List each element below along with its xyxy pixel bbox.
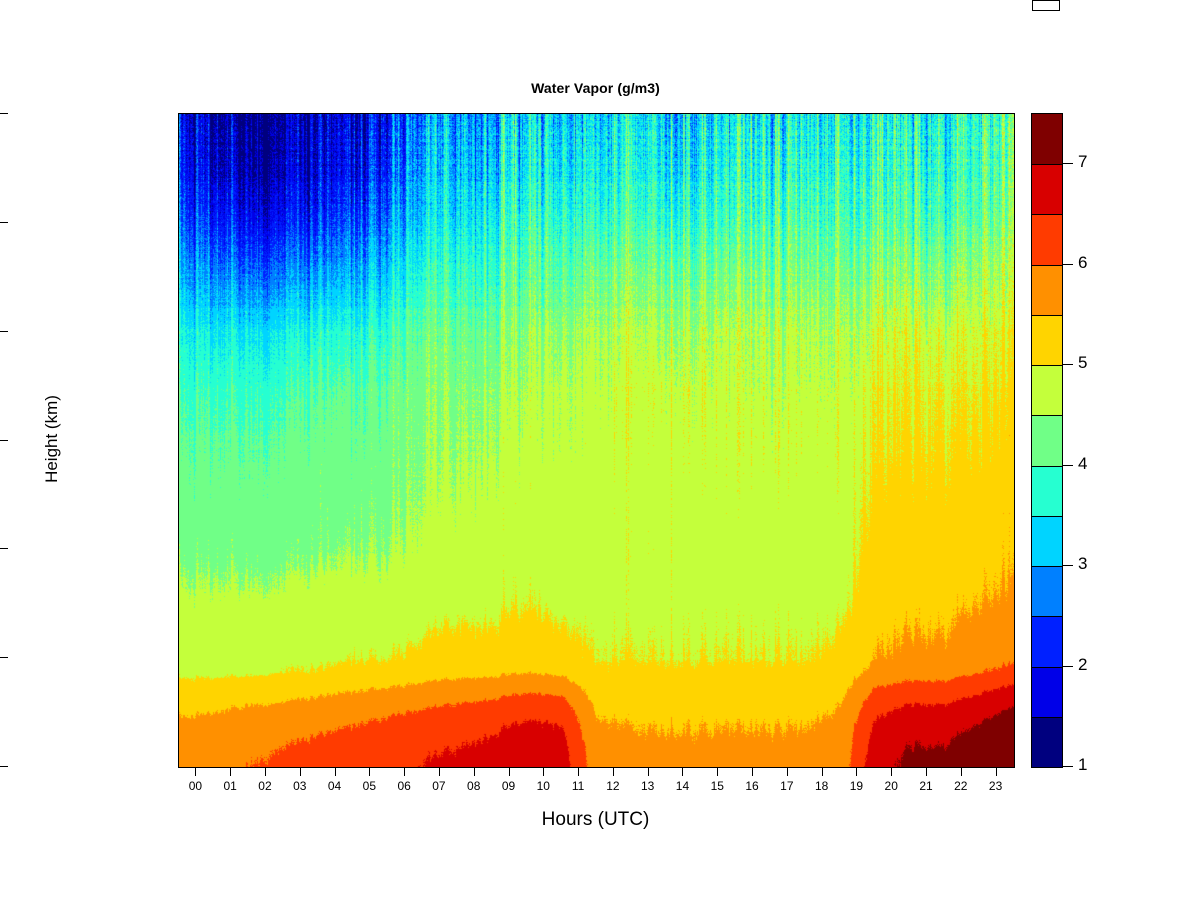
x-tick-line <box>996 767 997 776</box>
x-tick-label: 16 <box>740 779 764 793</box>
x-tick-line <box>509 767 510 776</box>
x-tick-line <box>474 767 475 776</box>
colorbar-tick-line <box>1063 465 1073 466</box>
x-tick-line <box>961 767 962 776</box>
x-tick-label: 23 <box>984 779 1008 793</box>
y-tick-line <box>0 657 8 658</box>
x-tick-line <box>369 767 370 776</box>
x-tick-line <box>439 767 440 776</box>
x-tick-label: 01 <box>218 779 242 793</box>
x-tick-label: 09 <box>497 779 521 793</box>
x-tick-label: 17 <box>775 779 799 793</box>
x-tick-label: 06 <box>392 779 416 793</box>
y-tick-line <box>0 113 8 114</box>
x-tick-line <box>543 767 544 776</box>
y-tick-line <box>0 331 8 332</box>
x-tick-label: 05 <box>357 779 381 793</box>
x-tick-line <box>404 767 405 776</box>
colorbar-tick-line <box>1063 264 1073 265</box>
x-tick-line <box>265 767 266 776</box>
corner-marker <box>1032 0 1060 11</box>
x-axis-title: Hours (UTC) <box>178 809 1013 831</box>
colorbar-band <box>1032 667 1062 717</box>
colorbar-tick-line <box>1063 364 1073 365</box>
colorbar-tick-label: 1 <box>1078 755 1087 775</box>
colorbar-tick-label: 6 <box>1078 253 1087 273</box>
x-tick-line <box>578 767 579 776</box>
colorbar-tick-label: 4 <box>1078 454 1087 474</box>
x-tick-line <box>752 767 753 776</box>
colorbar-tick-label: 2 <box>1078 655 1087 675</box>
colorbar-band <box>1032 466 1062 516</box>
colorbar-tick-label: 7 <box>1078 152 1087 172</box>
x-tick-label: 07 <box>427 779 451 793</box>
colorbar-tick-label: 3 <box>1078 554 1087 574</box>
heatmap-field <box>179 114 1014 767</box>
colorbar-band <box>1032 114 1062 164</box>
x-tick-label: 12 <box>601 779 625 793</box>
x-tick-line <box>230 767 231 776</box>
x-tick-line <box>787 767 788 776</box>
colorbar-tick-line <box>1063 163 1073 164</box>
colorbar-band <box>1032 214 1062 264</box>
x-tick-label: 11 <box>566 779 590 793</box>
x-tick-line <box>648 767 649 776</box>
y-tick-line <box>0 548 8 549</box>
colorbar-tick-line <box>1063 666 1073 667</box>
colorbar-band <box>1032 516 1062 566</box>
x-tick-label: 13 <box>636 779 660 793</box>
colorbar-tick-line <box>1063 766 1073 767</box>
colorbar-band <box>1032 315 1062 365</box>
colorbar-band <box>1032 365 1062 415</box>
figure-canvas: Water Vapor (g/m3) 0.00.51.01.52.02.53.0… <box>0 0 1200 900</box>
x-tick-line <box>613 767 614 776</box>
colorbar-band <box>1032 415 1062 465</box>
heatmap-panel <box>178 113 1015 768</box>
y-tick-line <box>0 440 8 441</box>
colorbar-tick-line <box>1063 565 1073 566</box>
x-tick-line <box>822 767 823 776</box>
x-tick-label: 21 <box>914 779 938 793</box>
x-tick-line <box>891 767 892 776</box>
x-tick-label: 15 <box>705 779 729 793</box>
x-tick-label: 22 <box>949 779 973 793</box>
x-tick-label: 02 <box>253 779 277 793</box>
x-tick-label: 20 <box>879 779 903 793</box>
x-tick-line <box>335 767 336 776</box>
x-tick-label: 00 <box>183 779 207 793</box>
x-tick-line <box>856 767 857 776</box>
colorbar-band <box>1032 616 1062 666</box>
y-tick-line <box>0 766 8 767</box>
y-axis-title: Height (km) <box>42 395 62 483</box>
page-title: Water Vapor (g/m3) <box>178 80 1013 96</box>
x-tick-label: 10 <box>531 779 555 793</box>
x-tick-label: 08 <box>462 779 486 793</box>
x-tick-line <box>926 767 927 776</box>
colorbar-band <box>1032 265 1062 315</box>
x-tick-label: 14 <box>670 779 694 793</box>
x-tick-line <box>682 767 683 776</box>
y-tick-line <box>0 222 8 223</box>
x-tick-line <box>717 767 718 776</box>
x-tick-line <box>195 767 196 776</box>
x-tick-line <box>300 767 301 776</box>
x-tick-label: 18 <box>810 779 834 793</box>
colorbar-band <box>1032 164 1062 214</box>
colorbar-band <box>1032 717 1062 767</box>
x-tick-label: 04 <box>323 779 347 793</box>
x-tick-label: 03 <box>288 779 312 793</box>
x-tick-label: 19 <box>844 779 868 793</box>
colorbar <box>1031 113 1063 768</box>
colorbar-band <box>1032 566 1062 616</box>
colorbar-tick-label: 5 <box>1078 353 1087 373</box>
